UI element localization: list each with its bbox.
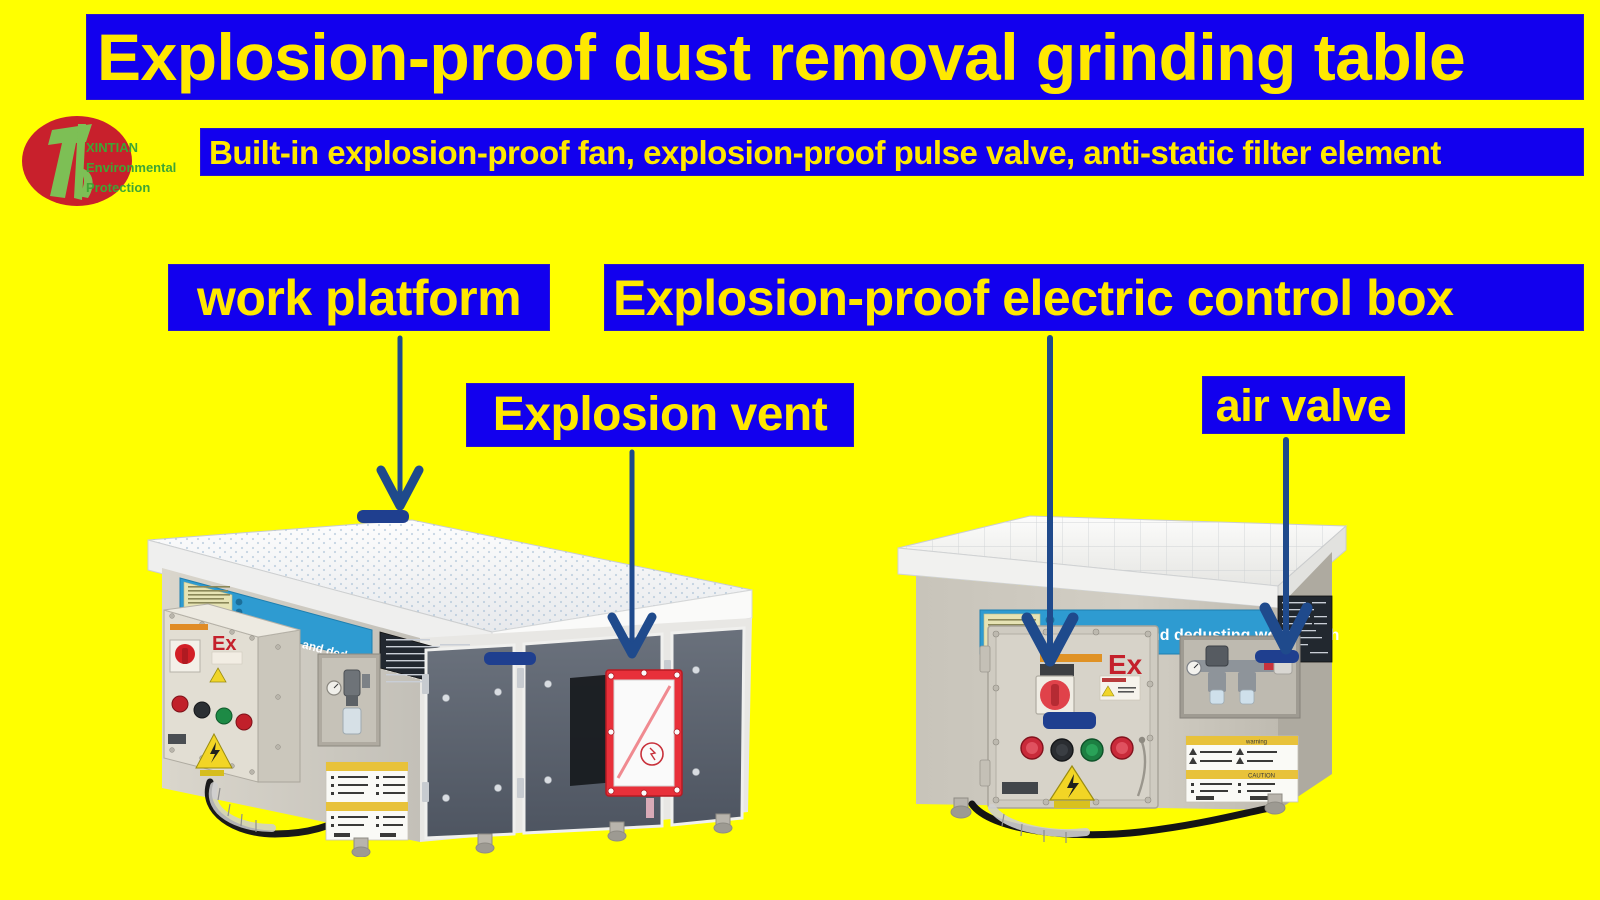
marker-chip-air-valve: [1255, 650, 1299, 663]
product-photo-right: Grinding and dedusting workbench: [880, 498, 1380, 843]
air-valve-assembly-right: [1180, 636, 1300, 718]
product-photo-left: Grinding and dedusting workbench Ex: [140, 482, 760, 857]
callout-air-valve: air valve: [1202, 376, 1405, 434]
callout-explosion-vent: Explosion vent: [466, 383, 854, 447]
callout-control-box: Explosion-proof electric control box: [604, 264, 1584, 331]
caution-label-title-right: CAUTION: [1248, 774, 1275, 780]
marker-chip-explosion-vent: [484, 652, 536, 665]
ex-mark-left: Ex: [212, 633, 236, 655]
explosion-vent-panel-left: [606, 670, 682, 818]
company-logo: XINTIAN Environmental Protection: [20, 112, 182, 210]
logo-name-line3: Protection: [86, 180, 150, 195]
logo-name-line2: Environmental: [86, 160, 176, 175]
page-subtitle: Built-in explosion-proof fan, explosion-…: [200, 128, 1584, 176]
callout-work-platform: work platform: [168, 264, 550, 331]
logo-name-line1: XINTIAN: [86, 140, 138, 155]
marker-chip-control-box: [1043, 712, 1096, 729]
warning-label-title-right: warning: [1245, 740, 1267, 746]
page-title: Explosion-proof dust removal grinding ta…: [86, 14, 1584, 100]
marker-chip-work-platform: [357, 510, 409, 523]
ex-mark-right: Ex: [1108, 649, 1143, 680]
arrow-work-platform: [381, 338, 419, 506]
